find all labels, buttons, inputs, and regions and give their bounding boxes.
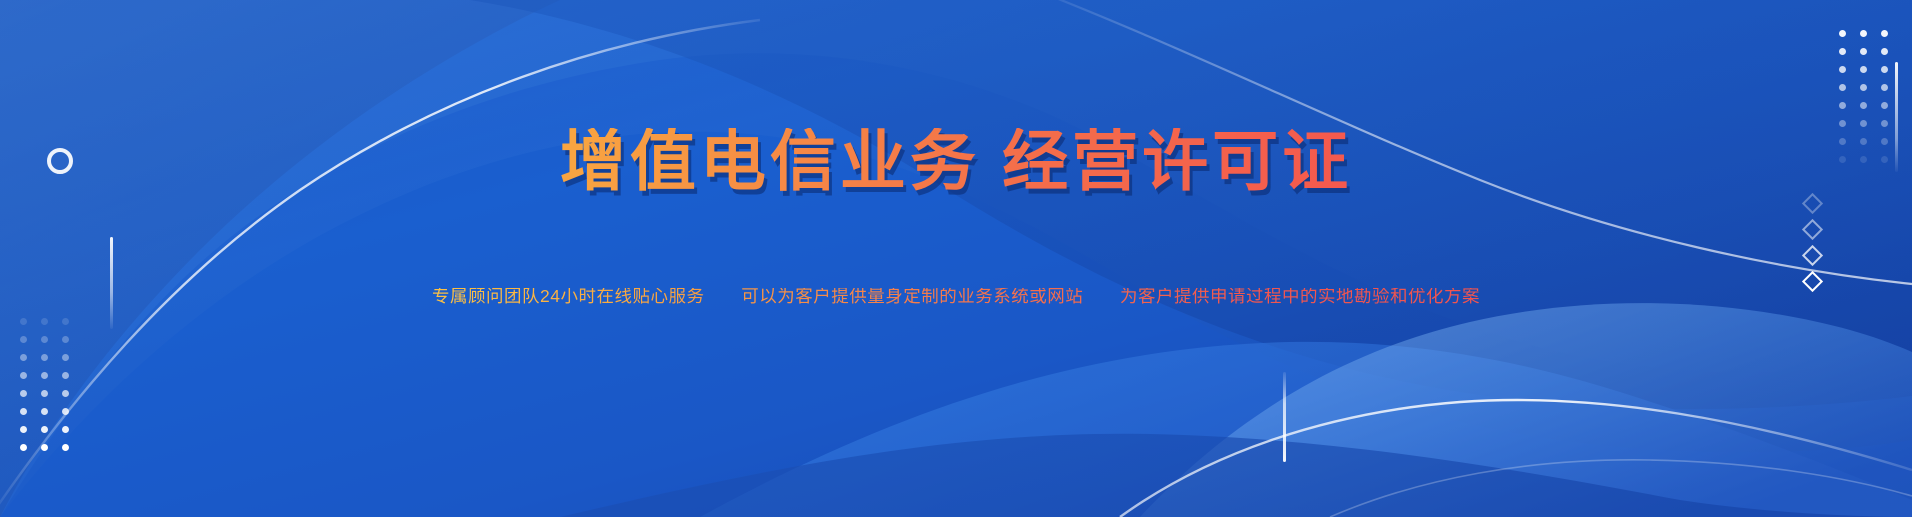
dot-grid-bottom-left-decoration [20,318,69,451]
diamond-stack-decoration [1805,196,1820,300]
diamond-icon [1802,193,1823,214]
background-artwork [0,0,1912,517]
subtitle-item-1: 专属顾问团队24小时在线贴心服务 [432,286,704,306]
diamond-icon [1802,219,1823,240]
subtitle-item-3: 为客户提供申请过程中的实地勘验和优化方案 [1120,286,1480,306]
subtitle-item-2: 可以为客户提供量身定制的业务系统或网站 [741,286,1083,306]
banner-title: 增值电信业务 经营许可证 [0,128,1912,194]
vertical-line-middle-decoration [1283,372,1286,462]
promo-banner: 增值电信业务 经营许可证 专属顾问团队24小时在线贴心服务 可以为客户提供量身定… [0,0,1912,517]
vertical-line-left-decoration [110,237,113,329]
banner-subtitle: 专属顾问团队24小时在线贴心服务 可以为客户提供量身定制的业务系统或网站 为客户… [0,288,1912,306]
diamond-icon [1802,245,1823,266]
